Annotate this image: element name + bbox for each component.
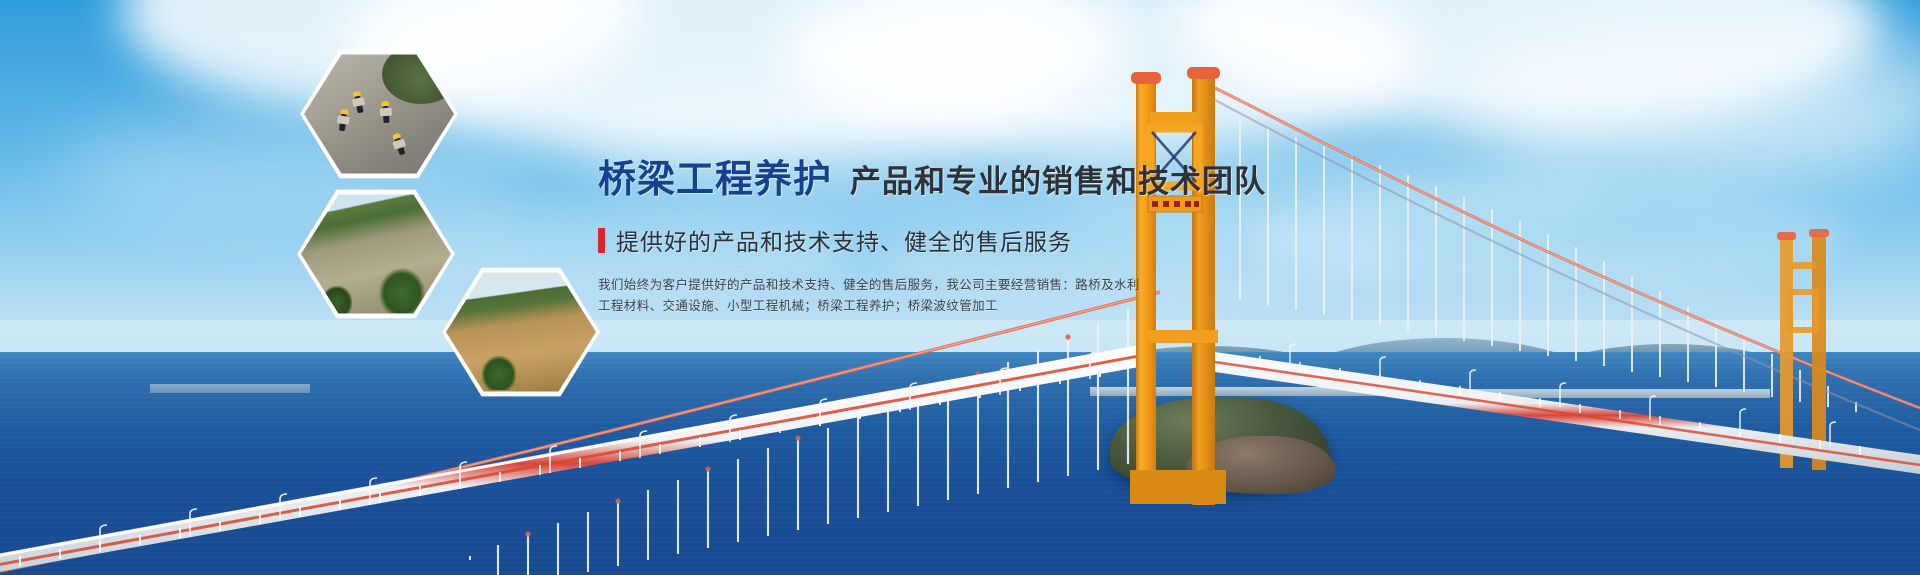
- description-paragraph: 我们始终为客户提供好的产品和技术支持、健全的售后服务，我公司主要经营销售：路桥及…: [598, 275, 1358, 317]
- accent-bar: [598, 228, 605, 253]
- page-title: 桥梁工程养护: [598, 148, 832, 203]
- worker-figure: [395, 137, 406, 155]
- headline-row: 桥梁工程养护 产品和专业的销售和技术团队: [598, 148, 1358, 203]
- bridge-pier-island: [1110, 398, 1330, 490]
- worker-figure: [339, 114, 347, 132]
- banner-copy: 桥梁工程养护 产品和专业的销售和技术团队 提供好的产品和技术支持、健全的售后服务…: [598, 148, 1358, 317]
- description-line-2: 工程材料、交通设施、小型工程机械；桥梁工程养护；桥梁波纹管加工: [598, 296, 1358, 317]
- photo-tree: [482, 356, 516, 390]
- hero-banner: 桥梁工程养护 产品和专业的销售和技术团队 提供好的产品和技术支持、健全的售后服务…: [0, 0, 1920, 575]
- page-subtitle: 产品和专业的销售和技术团队: [850, 156, 1266, 201]
- far-shoreline: [1090, 387, 1450, 396]
- far-shoreline: [1470, 389, 1770, 398]
- worker-figure: [354, 96, 363, 114]
- far-shoreline: [150, 384, 310, 393]
- subheading-row: 提供好的产品和技术支持、健全的售后服务: [598, 223, 1358, 257]
- subheading-text: 提供好的产品和技术支持、健全的售后服务: [616, 223, 1072, 257]
- description-line-1: 我们始终为客户提供好的产品和技术支持、健全的售后服务，我公司主要经营销售：路桥及…: [598, 275, 1358, 296]
- photo-tree: [379, 268, 425, 314]
- worker-figure: [382, 106, 389, 123]
